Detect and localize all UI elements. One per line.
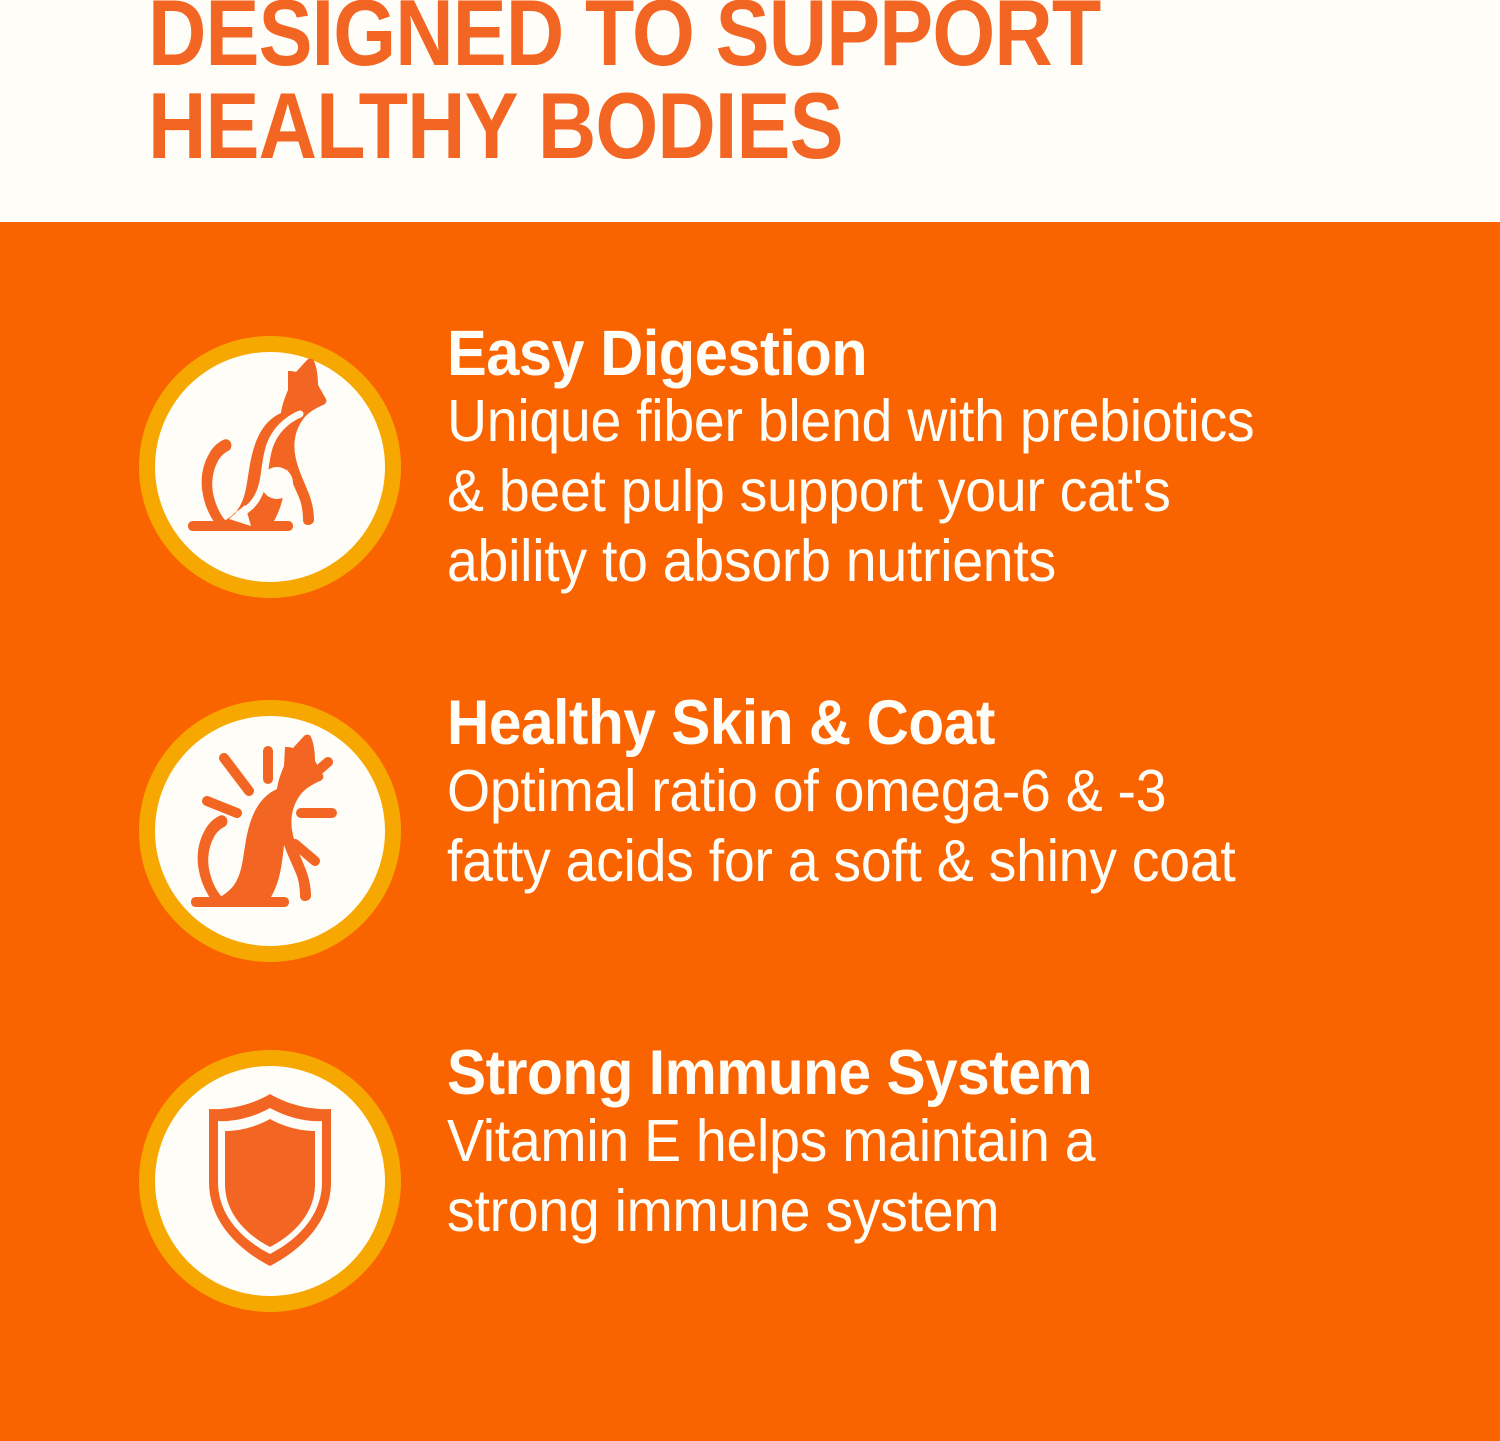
feature-icon-badge — [139, 700, 401, 962]
feature-title: Healthy Skin & Coat — [447, 690, 1405, 756]
feature-description: Vitamin E helps maintain a strong immune… — [447, 1106, 1415, 1246]
feature-description: Unique fiber blend with prebiotics & bee… — [447, 386, 1415, 596]
feature-text: Easy Digestion Unique fiber blend with p… — [447, 320, 1477, 596]
cat-digestion-icon — [155, 352, 385, 582]
feature-text: Healthy Skin & Coat Optimal ratio of ome… — [447, 690, 1477, 896]
features-panel: Easy Digestion Unique fiber blend with p… — [0, 222, 1500, 1441]
shield-icon — [155, 1066, 385, 1296]
promo-infographic: DESIGNED TO SUPPORT HEALTHY BODIES — [0, 0, 1500, 1441]
feature-icon-badge — [139, 336, 401, 598]
title-band: DESIGNED TO SUPPORT HEALTHY BODIES — [0, 0, 1500, 222]
cat-shine-icon — [155, 716, 385, 946]
feature-description: Optimal ratio of omega-6 & -3 fatty acid… — [447, 756, 1415, 896]
feature-title: Easy Digestion — [447, 320, 1405, 386]
page-title: DESIGNED TO SUPPORT HEALTHY BODIES — [148, 0, 1180, 172]
feature-title: Strong Immune System — [447, 1040, 1405, 1106]
feature-icon-badge — [139, 1050, 401, 1312]
feature-text: Strong Immune System Vitamin E helps mai… — [447, 1040, 1477, 1246]
